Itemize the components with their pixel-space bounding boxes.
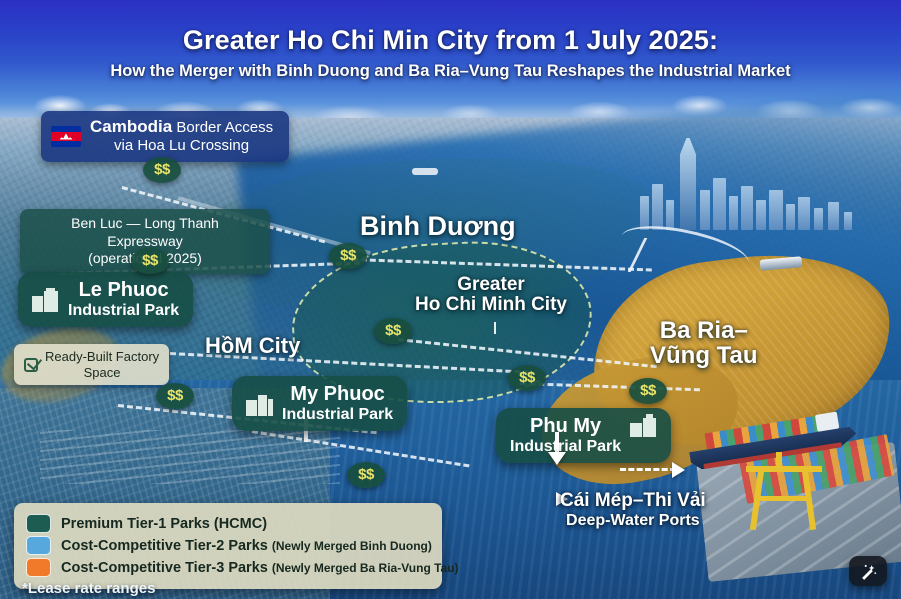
port-right-arrow-icon	[672, 462, 685, 478]
legend-footnote: *Lease rate ranges	[22, 580, 155, 597]
ready-built-line-1: Ready-Built Factory	[45, 349, 159, 364]
phu-my-down-arrow-icon	[548, 452, 566, 465]
cambodia-flag-icon	[51, 126, 81, 147]
legend-label-3: Cost-Competitive Tier-3 Parks (Newly Mer…	[61, 560, 459, 576]
callout-le-phuoc-industrial-park[interactable]: Le Phuoc Industrial Park	[18, 272, 193, 327]
greater-hcmc-pointer	[494, 322, 496, 334]
le-phuoc-name: Le Phuoc	[68, 279, 179, 302]
legend-label-1: Premium Tier-1 Parks (HCMC)	[61, 516, 267, 532]
lease-rate-badge-2[interactable]: $$	[131, 248, 169, 274]
region-label-greater-hcmc: Greater Ho Chi Minh City	[415, 275, 567, 315]
le-phuoc-text: Le Phuoc Industrial Park	[68, 279, 179, 320]
ready-built-line-2: Space	[84, 365, 121, 380]
infographic-map: Greater Ho Chi Min City from 1 July 2025…	[0, 0, 901, 599]
factory-icon	[246, 392, 273, 416]
gantry-crane-icon	[746, 452, 822, 530]
legend-swatch-3	[26, 558, 51, 577]
magic-edit-button[interactable]	[849, 556, 887, 586]
my-phuoc-text: My Phuoc Industrial Park	[282, 383, 393, 424]
legend-swatch-1	[26, 514, 51, 533]
legend-row-1: Premium Tier-1 Parks (HCMC)	[26, 514, 430, 533]
my-phuoc-name: My Phuoc	[282, 383, 393, 406]
callout-cambodia-border-access[interactable]: Cambodia Border Access via Hoa Lu Crossi…	[41, 111, 289, 162]
callout-cai-mep-thi-vai-ports[interactable]: Cái Mép–Thi Vải Deep-Water Ports	[560, 490, 706, 530]
legend-note-3: (Newly Merged Ba Ria-Vung Tau)	[272, 561, 459, 575]
lease-rate-badge-5[interactable]: $$	[156, 383, 194, 409]
cambodia-callout-text: Cambodia Border Access via Hoa Lu Crossi…	[90, 117, 273, 155]
ports-sub: Deep-Water Ports	[560, 512, 706, 530]
phu-my-text: Phu My Industrial Park	[510, 415, 621, 456]
lease-rate-badge-3[interactable]: $$	[329, 243, 367, 269]
my-phuoc-sub: Industrial Park	[282, 406, 393, 424]
callout-phu-my-industrial-park[interactable]: Phu My Industrial Park	[496, 408, 671, 463]
rail-yard	[40, 430, 340, 484]
legend-swatch-2	[26, 536, 51, 555]
callout-ready-built-factory-space[interactable]: Ready-Built Factory Space	[14, 344, 169, 385]
legend-panel: Premium Tier-1 Parks (HCMC)Cost-Competit…	[14, 503, 442, 589]
page-subtitle: How the Merger with Binh Duong and Ba Ri…	[0, 62, 901, 81]
cambodia-name: Cambodia	[90, 117, 172, 136]
phu-my-name: Phu My	[510, 415, 621, 438]
legend-row-3: Cost-Competitive Tier-3 Parks (Newly Mer…	[26, 558, 430, 577]
port-link-dashes	[620, 468, 676, 471]
legend-label-2: Cost-Competitive Tier-2 Parks (Newly Mer…	[61, 538, 432, 554]
legend-note-2: (Newly Merged Binh Duong)	[272, 539, 432, 553]
ready-built-text: Ready-Built Factory Space	[45, 349, 159, 380]
expressway-line-1: Ben Luc — Long Thanh Expressway	[71, 215, 219, 249]
region-label-hcm-city: HồM City	[205, 334, 300, 357]
phu-my-to-port-arrow-stem	[555, 432, 559, 454]
ports-name: Cái Mép–Thi Vải	[560, 490, 706, 512]
magic-wand-icon	[859, 562, 878, 581]
cambodia-rest: Border Access	[172, 119, 273, 136]
lease-rate-badge-6[interactable]: $$	[508, 365, 546, 391]
checkbox-checked-icon	[24, 358, 38, 372]
lease-rate-badge-1[interactable]: $$	[143, 157, 181, 183]
region-label-ba-ria-vung-tau: Ba Ria– Vũng Tau	[650, 318, 758, 368]
factory-icon	[630, 414, 657, 438]
lease-rate-badge-8[interactable]: $$	[347, 462, 385, 488]
region-label-binh-duong: Binh Duơng	[360, 212, 516, 240]
city-skyline	[636, 120, 901, 230]
river-boat	[412, 168, 438, 175]
page-title: Greater Ho Chi Min City from 1 July 2025…	[0, 25, 901, 56]
factory-icon	[32, 288, 59, 312]
lease-rate-badge-4[interactable]: $$	[374, 318, 412, 344]
lease-rate-badge-7[interactable]: $$	[629, 378, 667, 404]
legend-row-2: Cost-Competitive Tier-2 Parks (Newly Mer…	[26, 536, 430, 555]
cambodia-crossing: via Hoa Lu Crossing	[90, 137, 273, 155]
le-phuoc-sub: Industrial Park	[68, 302, 179, 320]
callout-my-phuoc-industrial-park[interactable]: My Phuoc Industrial Park	[232, 376, 407, 431]
landmark-tower-icon	[680, 138, 696, 230]
